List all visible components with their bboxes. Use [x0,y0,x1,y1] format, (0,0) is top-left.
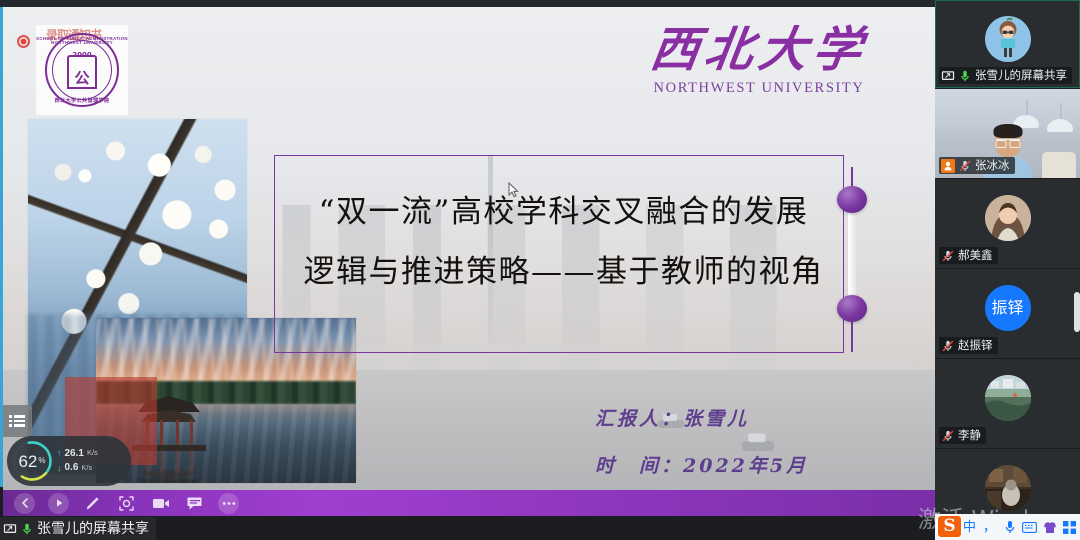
pavilion-column-reflection [160,450,163,472]
microphone-on-icon [958,69,972,83]
date-line: 时 间：2022年5月 [595,457,808,476]
participant-tile-host[interactable]: 张冰冰 [935,89,1080,178]
tile-badges: 张冰冰 [939,157,1015,174]
university-wordmark: 西北大学 NORTHWEST UNIVERSITY [609,25,909,96]
network-speed-widget[interactable]: 62 % ↑ 26.1 K/s ↓ 0.6 K/s [7,436,131,486]
ime-soft-keyboard-icon[interactable] [1021,522,1038,533]
download-speed-value: 0.6 [65,461,79,476]
microphone-muted-icon [958,159,972,173]
annotate-pen-button[interactable] [82,493,103,514]
screen: 录取通知书 SCHOOL OF PUBLIC ADMINISTRATION NO… [0,0,1080,540]
title-line-2: 逻辑与推进策略——基于教师的视角 [291,242,836,302]
title-line-1: “双一流”高校学科交叉融合的发展 [291,182,836,242]
participant-rail[interactable]: 张雪儿的屏幕共享 [935,0,1080,540]
ime-toolbar[interactable]: S 中 ， [935,514,1080,540]
pavilion-column [176,420,179,446]
avatar [985,195,1031,241]
recording-dot-icon [17,35,30,48]
chat-button[interactable] [184,493,205,514]
office-chair [1042,152,1076,178]
presenter-toolbar[interactable] [3,490,935,516]
screen-share-status-label: 张雪儿的屏幕共享 [0,517,156,540]
slide-title: “双一流”高校学科交叉融合的发展 逻辑与推进策略——基于教师的视角 [291,182,836,303]
network-speed-rows: ↑ 26.1 K/s ↓ 0.6 K/s [57,447,98,476]
avatar [985,375,1031,421]
glasses-icon [995,139,1020,145]
pavilion-column [190,420,193,446]
person-hair [993,124,1022,138]
bead-rail-highlight [848,207,856,307]
ime-toolbox-icon[interactable] [1061,521,1078,534]
shared-slide[interactable]: 录取通知书 SCHOOL OF PUBLIC ADMINISTRATION NO… [3,7,935,490]
pavilion-column-reflection [190,450,193,472]
tile-badges: 郝美鑫 [939,247,998,264]
upload-speed-unit: K/s [87,448,98,459]
purple-sphere-bottom-icon [837,295,867,322]
more-options-button[interactable] [218,493,239,514]
upload-arrow-icon: ↑ [57,447,62,460]
participant-tile-screen-share[interactable]: 张雪儿的屏幕共享 [935,0,1080,88]
participant-tile-5[interactable]: 李静 [935,359,1080,448]
window-top-strip [0,0,935,7]
camera-button[interactable] [150,493,171,514]
usage-gauge: 62 % [10,439,54,483]
ime-logo-icon[interactable]: S [936,514,963,539]
next-slide-button[interactable] [48,493,69,514]
microphone-icon [20,522,34,536]
microphone-muted-icon [941,339,955,353]
usage-percent-unit: % [38,457,45,465]
download-speed-row: ↓ 0.6 K/s [57,461,98,476]
participant-rail-scrollbar[interactable] [1074,292,1080,332]
participant-name: 张冰冰 [975,158,1010,173]
seal-arc-top-text: SCHOOL OF PUBLIC ADMINISTRATION NORTHWES… [36,37,128,46]
pavilion-column [160,420,163,446]
boat [742,441,775,451]
upload-speed-row: ↑ 26.1 K/s [57,447,98,462]
participant-tile-4[interactable]: 振铎 赵振铎 [935,269,1080,358]
tile-badges: 李静 [939,427,986,444]
list-icon [9,413,26,429]
university-name-cn: 西北大学 [605,25,912,75]
ime-voice-input-icon[interactable] [1001,520,1018,534]
avatar [985,16,1031,62]
ime-punctuation[interactable]: ， [981,521,998,534]
participant-name: 李静 [958,428,981,443]
seal-gate-emblem: 公 [67,55,97,89]
participant-name: 赵振铎 [958,338,993,353]
tile-badges: 张雪儿的屏幕共享 [939,67,1072,84]
school-seal-logo: 录取通知书 SCHOOL OF PUBLIC ADMINISTRATION NO… [36,25,128,115]
ime-skin-icon[interactable] [1041,521,1058,534]
screen-share-icon [941,69,955,83]
university-name-en: NORTHWEST UNIVERSITY [609,81,909,96]
previous-slide-button[interactable] [14,493,35,514]
microphone-muted-icon [941,249,955,263]
pavilion-column-reflection [176,450,179,472]
seal-arc-bottom-text: 西北大学公共管理学院 [36,99,128,104]
purple-sphere-top-icon [837,186,867,213]
tile-badges: 赵振铎 [939,337,998,354]
seal-center-char: 公 [74,71,89,86]
download-arrow-icon: ↓ [57,462,62,475]
usage-percent: 62 % [10,439,54,483]
screen-share-icon [3,522,17,536]
spotlight-button[interactable] [116,493,137,514]
participant-tile-3[interactable]: 郝美鑫 [935,179,1080,268]
microphone-muted-icon [941,429,955,443]
participant-name: 张雪儿的屏幕共享 [975,68,1067,83]
avatar-initials: 振铎 [985,285,1031,331]
ceiling-lamp [1047,119,1073,132]
share-label-text: 张雪儿的屏幕共享 [37,522,149,536]
participant-name: 郝美鑫 [958,248,993,263]
ime-mode-chinese[interactable]: 中 [961,521,978,534]
avatar [985,465,1031,511]
presenter-line: 汇报人：张雪儿 [595,410,749,429]
upload-speed-value: 26.1 [65,447,84,462]
download-speed-unit: K/s [81,463,92,474]
host-icon [941,159,955,173]
list-panel-tab[interactable] [3,405,32,437]
usage-percent-value: 62 [18,453,37,470]
